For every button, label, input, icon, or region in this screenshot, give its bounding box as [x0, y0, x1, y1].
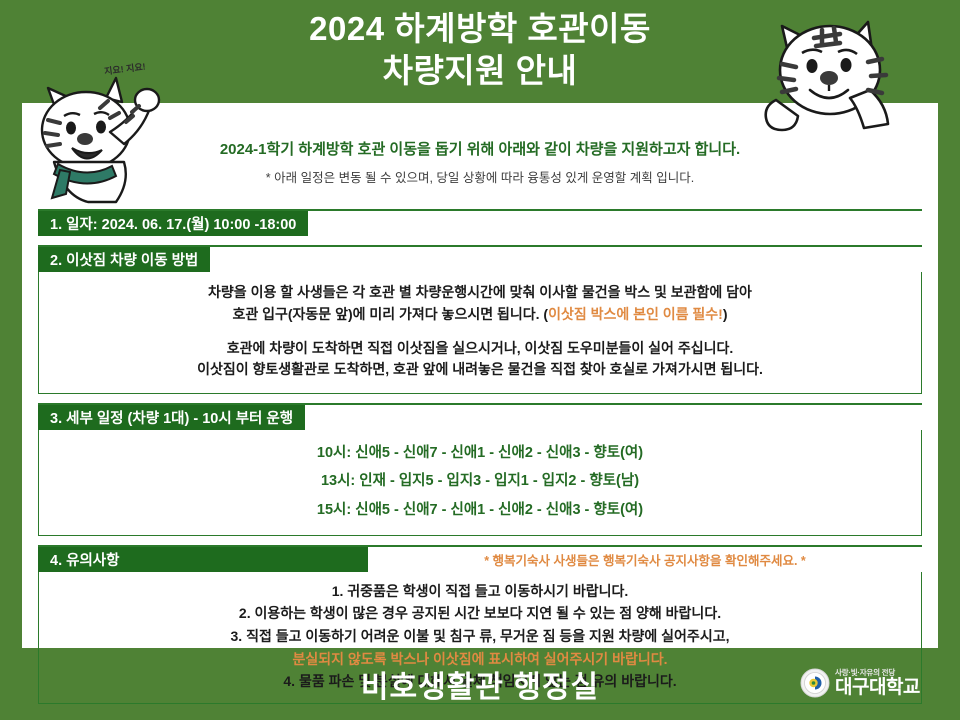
route-item: 13시: 인재 - 입지5 - 입지3 - 입지1 - 입지2 - 향토(남) — [53, 467, 907, 495]
logo-tagline: 사랑·빛·자유의 전당 — [835, 669, 920, 677]
section-1-headrow: 1. 일자: 2024. 06. 17.(월) 10:00 -18:00 — [38, 211, 922, 236]
footer-office-name: 비호생활관 행정실 — [361, 662, 599, 706]
section-3-headrow: 3. 세부 일정 (차량 1대) - 10시 부터 운행 — [38, 405, 922, 430]
poster-title: 2024 하계방학 호관이동 차량지원 안내 — [0, 0, 960, 100]
section-2-paragraph-1: 차량을 이용 할 사생들은 각 호관 별 차량운행시간에 맞춰 이사할 물건을 … — [53, 282, 907, 325]
title-line-2: 차량지원 안내 — [383, 50, 578, 92]
daegu-university-emblem — [800, 668, 830, 698]
section-4-head-note: * 행복기숙사 사생들은 행복기숙사 공지사항을 확인해주세요. * — [368, 547, 922, 572]
notice-item: 1. 귀중품은 학생이 직접 들고 이동하시기 바랍니다. — [53, 580, 907, 603]
section-2-headrow: 2. 이삿짐 차량 이동 방법 — [38, 247, 922, 272]
route-item: 10시: 신애5 - 신애7 - 신애1 - 신애2 - 신애3 - 향토(여) — [53, 439, 907, 467]
section-2-body: 차량을 이용 할 사생들은 각 호관 별 차량운행시간에 맞춰 이사할 물건을 … — [38, 272, 922, 394]
notice-item: 2. 이용하는 학생이 많은 경우 공지된 시간 보보다 지연 될 수 있는 점… — [53, 602, 907, 625]
title-line-1: 2024 하계방학 호관이동 — [309, 8, 651, 50]
s2-p2-line1: 호관에 차량이 도착하면 직접 이삿짐을 실으시거나, 이삿짐 도우미분들이 실… — [227, 340, 733, 356]
s2-p1-line2c: ) — [723, 306, 728, 322]
s2-p1-line2a: 호관 입구(자동문 앞)에 미리 가져다 놓으시면 됩니다. ( — [232, 306, 548, 322]
section-4-heading: 4. 유의사항 — [38, 547, 368, 572]
notice-3-line1: 3. 직접 들고 이동하기 어려운 이불 및 침구 류, 무거운 짐 등을 지원… — [231, 628, 730, 644]
section-moving-method: 2. 이삿짐 차량 이동 방법 차량을 이용 할 사생들은 각 호관 별 차량운… — [38, 245, 922, 394]
route-item: 15시: 신애5 - 신애7 - 신애1 - 신애2 - 신애3 - 향토(여) — [53, 496, 907, 524]
section-1-heading: 1. 일자: 2024. 06. 17.(월) 10:00 -18:00 — [38, 211, 308, 236]
university-logo: 사랑·빛·자유의 전당 대구대학교 — [800, 668, 920, 698]
logo-text-block: 사랑·빛·자유의 전당 대구대학교 — [835, 669, 920, 698]
section-2-paragraph-2: 호관에 차량이 도착하면 직접 이삿짐을 실으시거나, 이삿짐 도우미분들이 실… — [53, 338, 907, 381]
section-schedule: 3. 세부 일정 (차량 1대) - 10시 부터 운행 10시: 신애5 - … — [38, 403, 922, 536]
logo-university-name: 대구대학교 — [835, 678, 920, 697]
s2-p2-line2: 이삿짐이 향토생활관로 도착하면, 호관 앞에 내려놓은 물건을 직접 찾아 호… — [197, 361, 763, 377]
section-3-heading: 3. 세부 일정 (차량 1대) - 10시 부터 운행 — [38, 405, 305, 430]
section-3-body: 10시: 신애5 - 신애7 - 신애1 - 신애2 - 신애3 - 향토(여)… — [38, 430, 922, 536]
section-date: 1. 일자: 2024. 06. 17.(월) 10:00 -18:00 — [38, 209, 922, 236]
section-4-headrow: 4. 유의사항 * 행복기숙사 사생들은 행복기숙사 공지사항을 확인해주세요.… — [38, 547, 922, 572]
s2-p1-line1: 차량을 이용 할 사생들은 각 호관 별 차량운행시간에 맞춰 이사할 물건을 … — [208, 284, 752, 300]
section-2-heading: 2. 이삿짐 차량 이동 방법 — [38, 247, 210, 272]
s2-p1-highlight: 이삿짐 박스에 본인 이름 필수! — [548, 306, 723, 322]
